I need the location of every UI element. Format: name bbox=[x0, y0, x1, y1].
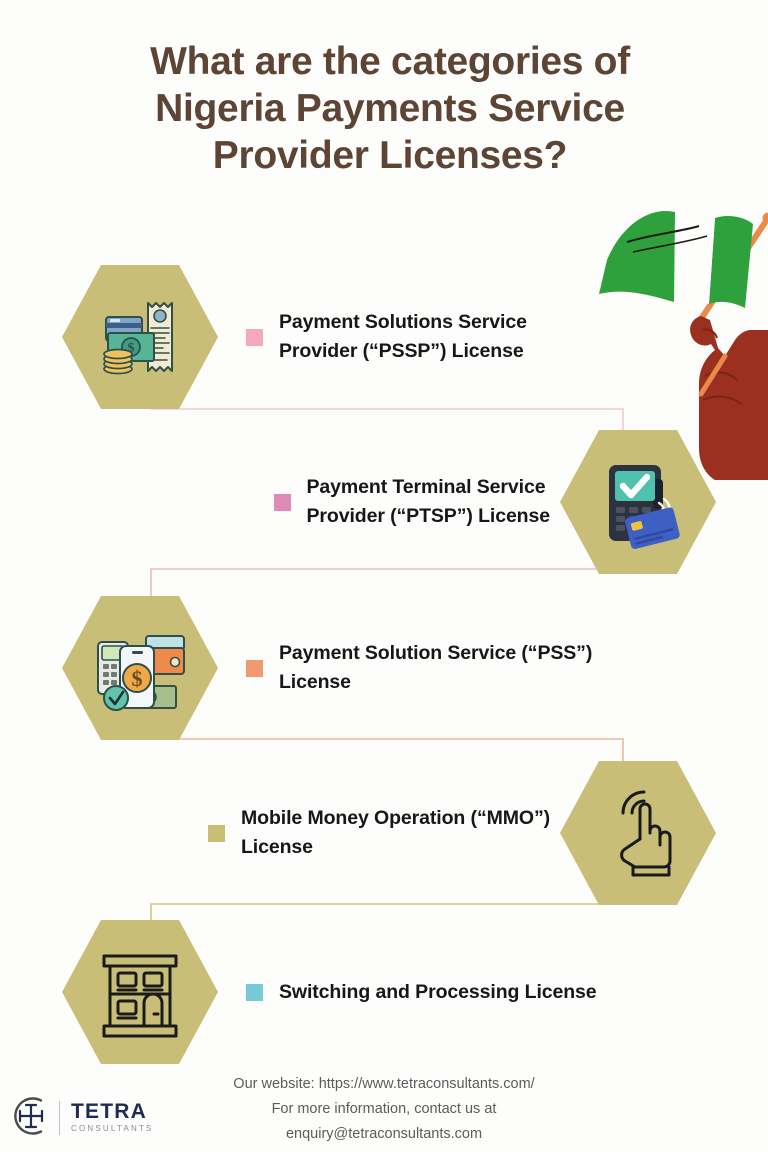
row-pssp: $ Payment Solutions Service Provider (“P… bbox=[0, 257, 768, 417]
bullet-mmo bbox=[208, 825, 225, 842]
hexagon-pss: $ bbox=[62, 593, 218, 743]
infographic-poster: What are the categories of Nigeria Payme… bbox=[0, 0, 768, 1152]
label-switching: Switching and Processing License bbox=[279, 978, 597, 1007]
logo-divider bbox=[59, 1101, 60, 1135]
logo-brand-subtitle: CONSULTANTS bbox=[71, 1123, 154, 1135]
row-switching: Switching and Processing License bbox=[0, 912, 768, 1072]
tetra-circle-cross-logo-icon bbox=[8, 1093, 54, 1144]
row-pss: $ Payment Solution Service (“PSS”) Licen… bbox=[0, 588, 768, 748]
label-block-mmo: Mobile Money Operation (“MMO”) License bbox=[208, 804, 550, 862]
label-pssp: Payment Solutions Service Provider (“PSS… bbox=[279, 308, 527, 366]
hexagon-ptsp bbox=[560, 427, 716, 577]
row-mmo: Mobile Money Operation (“MMO”) License bbox=[0, 753, 768, 913]
hexagon-mmo bbox=[560, 758, 716, 908]
tap-hand-icon bbox=[560, 758, 716, 908]
label-mmo: Mobile Money Operation (“MMO”) License bbox=[241, 804, 550, 862]
pos-terminal-card-icon bbox=[560, 427, 716, 577]
label-block-ptsp: Payment Terminal Service Provider (“PTSP… bbox=[274, 473, 551, 531]
mobile-payment-icon: $ bbox=[62, 593, 218, 743]
hexagon-pssp: $ bbox=[62, 262, 218, 412]
hexagon-switching bbox=[62, 917, 218, 1067]
bank-building-icon bbox=[62, 917, 218, 1067]
bullet-switching bbox=[246, 984, 263, 1001]
tetra-consultants-logo: TETRA CONSULTANTS bbox=[8, 1092, 158, 1144]
bullet-pssp bbox=[246, 329, 263, 346]
label-ptsp: Payment Terminal Service Provider (“PTSP… bbox=[307, 473, 551, 531]
label-pss: Payment Solution Service (“PSS”) License bbox=[279, 639, 592, 697]
label-block-switching: Switching and Processing License bbox=[246, 978, 597, 1007]
bullet-ptsp bbox=[274, 494, 291, 511]
label-block-pss: Payment Solution Service (“PSS”) License bbox=[246, 639, 592, 697]
page-title: What are the categories of Nigeria Payme… bbox=[60, 38, 720, 179]
bullet-pss bbox=[246, 660, 263, 677]
money-receipt-icon: $ bbox=[62, 262, 218, 412]
svg-text:$: $ bbox=[132, 666, 143, 691]
label-block-pssp: Payment Solutions Service Provider (“PSS… bbox=[246, 308, 527, 366]
row-ptsp: Payment Terminal Service Provider (“PTSP… bbox=[0, 422, 768, 582]
logo-text-block: TETRA CONSULTANTS bbox=[65, 1101, 154, 1135]
logo-brand-name: TETRA bbox=[71, 1101, 154, 1123]
